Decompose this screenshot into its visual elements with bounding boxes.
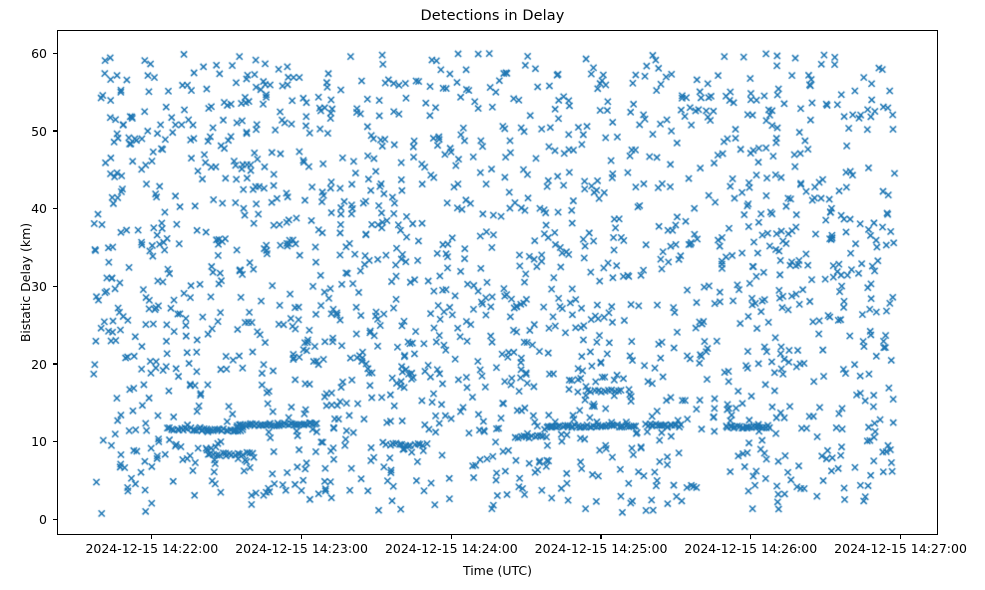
x-tick-label: 2024-12-15 14:27:00 [811,541,985,556]
scatter-plot-figure: Detections in Delay 0102030405060 2024-1… [0,0,985,590]
x-tick-mark [301,535,302,539]
scatter-points-canvas [58,31,937,534]
plot-axes-area [57,30,938,535]
x-tick-label: 2024-12-15 14:24:00 [361,541,541,556]
x-tick-label: 2024-12-15 14:26:00 [661,541,841,556]
x-tick-mark [451,535,452,539]
page-title: Detections in Delay [0,8,985,24]
x-axis-label: Time (UTC) [57,563,938,578]
x-tick-mark [900,535,901,539]
x-tick-label: 2024-12-15 14:23:00 [212,541,392,556]
x-tick-label: 2024-12-15 14:22:00 [62,541,242,556]
x-tick-mark [600,535,601,539]
x-tick-mark [750,535,751,539]
y-axis-label: Bistatic Delay (km) [18,30,34,535]
x-tick-label: 2024-12-15 14:25:00 [511,541,691,556]
x-tick-mark [151,535,152,539]
